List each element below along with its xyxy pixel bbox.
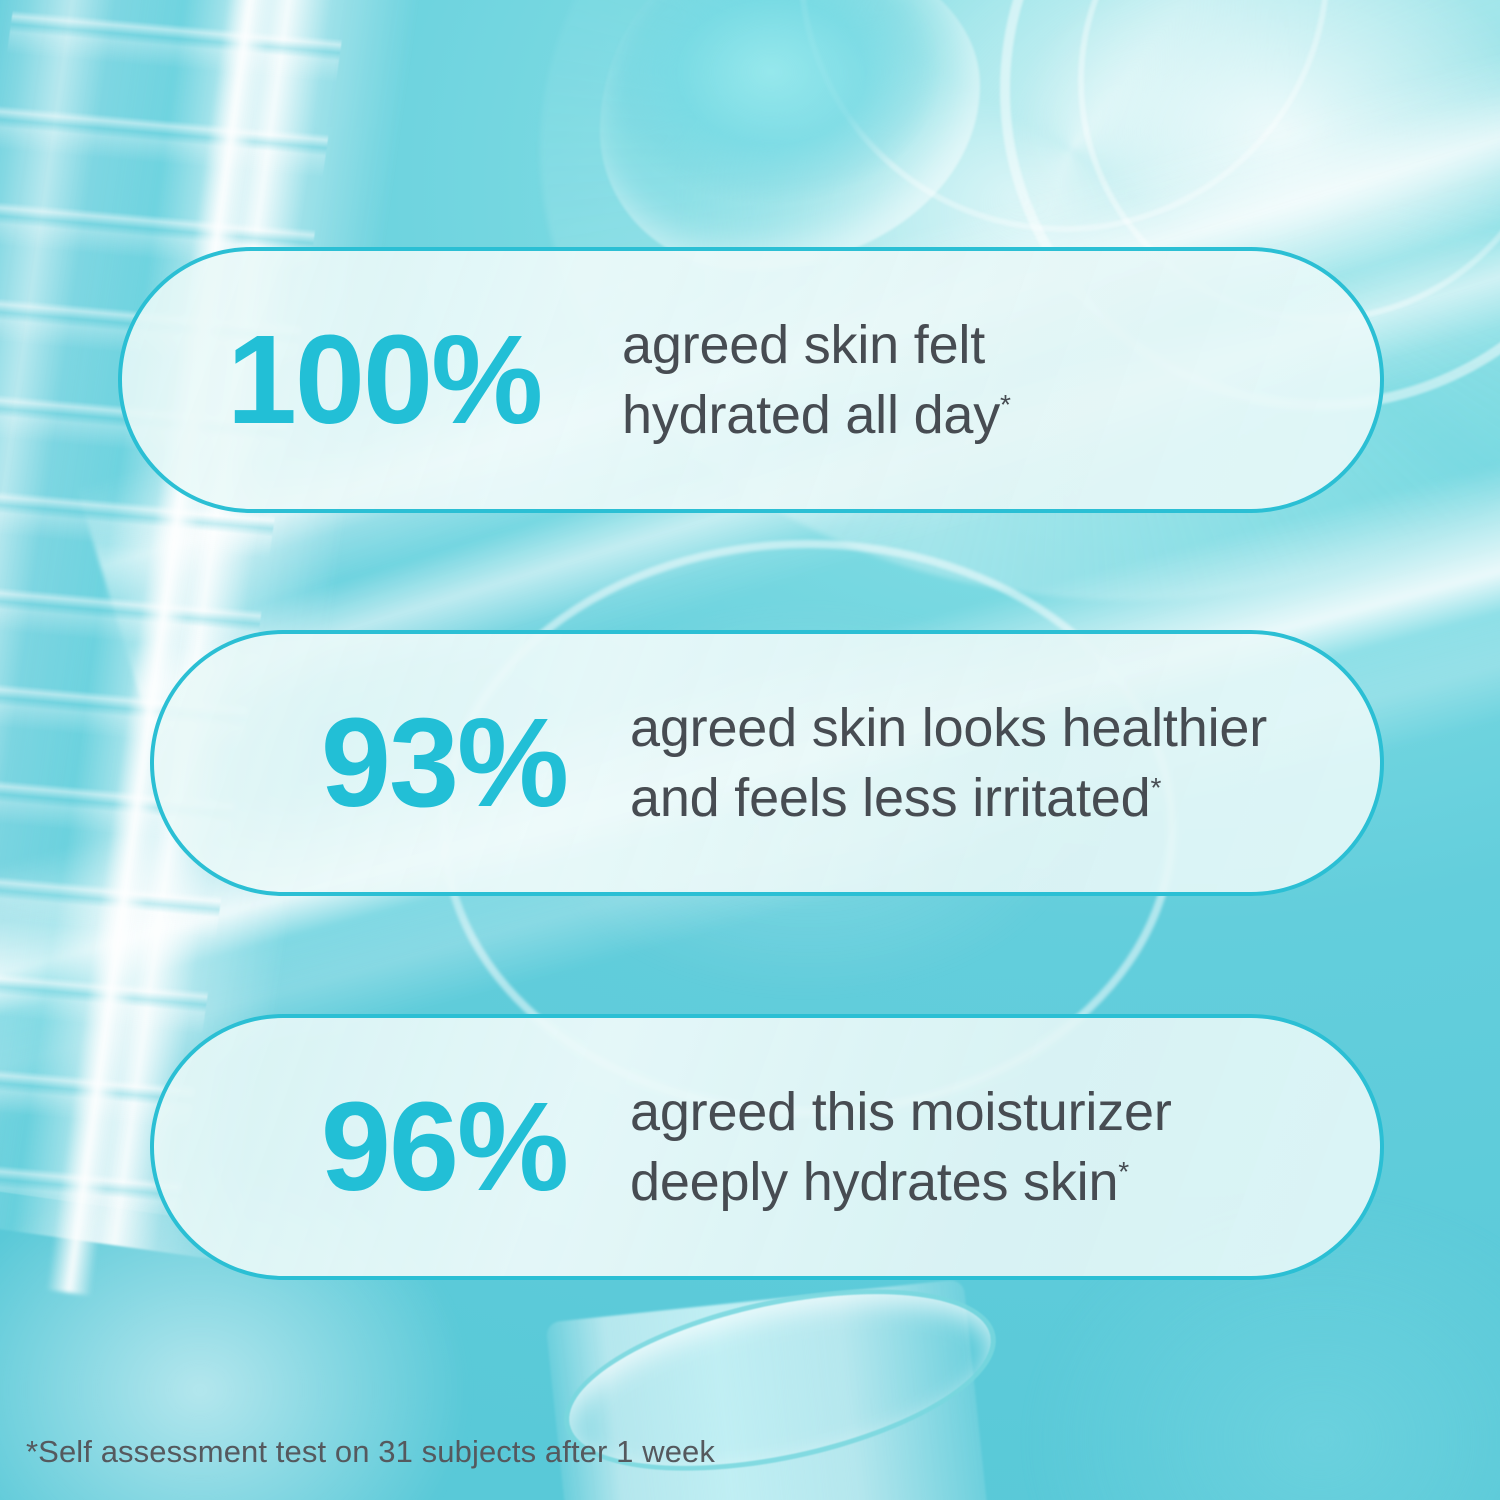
stat-card-hydrated: 100% agreed skin felt hydrated all day* (118, 247, 1384, 513)
stat-claim-text: agreed this moisturizer deeply hydrates … (630, 1077, 1172, 1217)
stat-claim-line-1: agreed skin looks healthier (630, 693, 1267, 763)
stat-claim-line-2: hydrated all day* (622, 380, 1011, 450)
stat-claim-line-2-text: hydrated all day (622, 385, 1000, 445)
stat-percent-value: 100% (174, 317, 594, 443)
stat-percent-value: 96% (264, 1084, 624, 1210)
footnote-marker: * (1000, 389, 1011, 420)
footnote-marker: * (1118, 1156, 1129, 1187)
study-footnote: *Self assessment test on 31 subjects aft… (26, 1434, 715, 1470)
marketing-claims-graphic: 100% agreed skin felt hydrated all day* … (0, 0, 1500, 1500)
stat-card-healthier: 93% agreed skin looks healthier and feel… (150, 630, 1384, 896)
stat-claim-line-2-text: and feels less irritated (630, 768, 1150, 828)
stat-card-moisturizer: 96% agreed this moisturizer deeply hydra… (150, 1014, 1384, 1280)
stat-claim-text: agreed skin looks healthier and feels le… (630, 693, 1267, 833)
stat-claim-text: agreed skin felt hydrated all day* (622, 310, 1011, 450)
stat-card-list: 100% agreed skin felt hydrated all day* … (0, 0, 1500, 1500)
stat-claim-line-2: and feels less irritated* (630, 763, 1267, 833)
stat-claim-line-2: deeply hydrates skin* (630, 1147, 1172, 1217)
stat-claim-line-1: agreed skin felt (622, 310, 1011, 380)
footnote-marker: * (1150, 772, 1161, 803)
stat-claim-line-1: agreed this moisturizer (630, 1077, 1172, 1147)
stat-percent-value: 93% (264, 700, 624, 826)
stat-claim-line-2-text: deeply hydrates skin (630, 1152, 1118, 1212)
